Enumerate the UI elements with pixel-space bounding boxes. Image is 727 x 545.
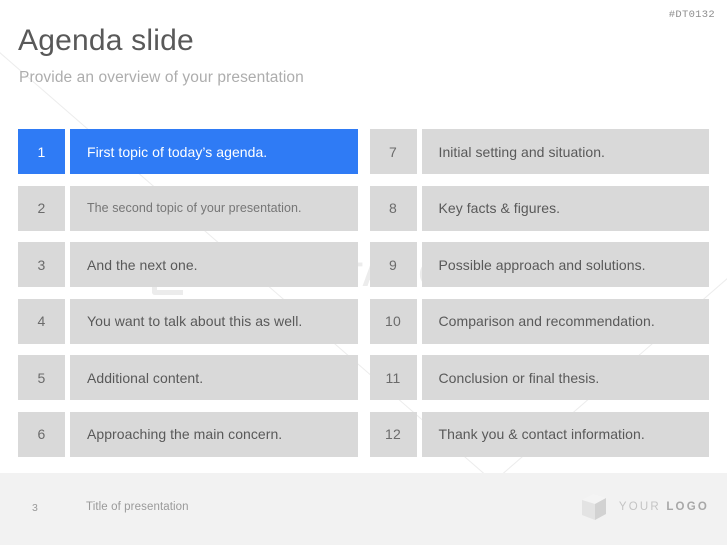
page-subtitle: Provide an overview of your presentation [19,68,658,87]
logo-text-strong: LOGO [666,501,709,513]
footer-presentation-title: Title of presentation [86,501,189,513]
document-code: #DT0132 [669,9,715,21]
slide-footer: 3 Title of presentation YOUR LOGO [0,473,727,545]
agenda-item-label: Additional content. [70,355,358,400]
agenda-item-4[interactable]: 4 You want to talk about this as well. [18,299,358,344]
agenda-item-7[interactable]: 7 Initial setting and situation. [370,129,710,174]
agenda-column-left: 1 First topic of today’s agenda. 2 The s… [18,129,358,457]
agenda-item-number: 7 [370,129,417,174]
agenda-item-label: Approaching the main concern. [70,412,358,457]
page-title: Agenda slide [18,24,658,58]
agenda-item-9[interactable]: 9 Possible approach and solutions. [370,242,710,287]
agenda-item-number: 8 [370,186,417,231]
slide-page-number: 3 [32,502,38,514]
agenda-item-number: 11 [370,355,417,400]
agenda-item-label: Thank you & contact information. [422,412,710,457]
logo-placeholder: YOUR LOGO [581,493,709,521]
agenda-item-number: 12 [370,412,417,457]
agenda-item-label: And the next one. [70,242,358,287]
cube-logo-icon [581,493,607,521]
agenda-item-6[interactable]: 6 Approaching the main concern. [18,412,358,457]
agenda-item-number: 6 [18,412,65,457]
agenda-grid: 1 First topic of today’s agenda. 2 The s… [18,129,709,457]
agenda-item-12[interactable]: 12 Thank you & contact information. [370,412,710,457]
agenda-item-label: Conclusion or final thesis. [422,355,710,400]
agenda-item-number: 3 [18,242,65,287]
agenda-item-label: Possible approach and solutions. [422,242,710,287]
agenda-column-right: 7 Initial setting and situation. 8 Key f… [370,129,710,457]
agenda-item-10[interactable]: 10 Comparison and recommendation. [370,299,710,344]
logo-text-light: YOUR [619,501,661,513]
agenda-item-label: The second topic of your presentation. [70,186,358,231]
agenda-item-8[interactable]: 8 Key facts & figures. [370,186,710,231]
agenda-item-number: 10 [370,299,417,344]
agenda-item-number: 9 [370,242,417,287]
agenda-item-5[interactable]: 5 Additional content. [18,355,358,400]
agenda-item-1[interactable]: 1 First topic of today’s agenda. [18,129,358,174]
agenda-item-label: Key facts & figures. [422,186,710,231]
agenda-item-number: 1 [18,129,65,174]
agenda-item-11[interactable]: 11 Conclusion or final thesis. [370,355,710,400]
agenda-item-number: 2 [18,186,65,231]
agenda-item-label: You want to talk about this as well. [70,299,358,344]
logo-text: YOUR LOGO [619,501,709,513]
slide-header: Agenda slide Provide an overview of your… [18,24,658,87]
agenda-item-number: 4 [18,299,65,344]
agenda-item-3[interactable]: 3 And the next one. [18,242,358,287]
agenda-slide: PRESENTATIONLOAD #DT0132 Agenda slide Pr… [0,0,727,545]
agenda-item-number: 5 [18,355,65,400]
agenda-item-2[interactable]: 2 The second topic of your presentation. [18,186,358,231]
agenda-item-label: First topic of today’s agenda. [70,129,358,174]
agenda-item-label: Comparison and recommendation. [422,299,710,344]
agenda-item-label: Initial setting and situation. [422,129,710,174]
